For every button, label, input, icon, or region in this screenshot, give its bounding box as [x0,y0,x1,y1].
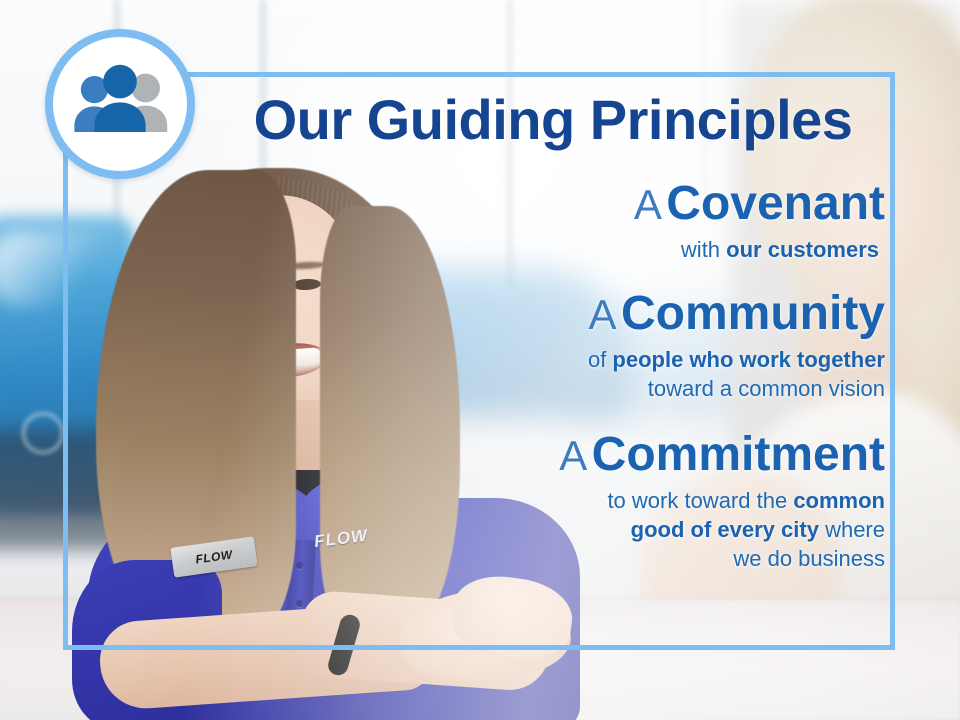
principle-article: A [634,181,662,228]
plain-text: toward a common vision [648,376,885,401]
badge-circle [45,29,195,179]
emphasis-text: common [793,488,885,513]
principle-detail-line: to work toward the common [320,486,885,515]
plain-text: we do business [733,546,885,571]
principle-keyword: Community [621,287,885,340]
principle-detail-line: good of every city where [320,515,885,544]
principle-detail: to work toward the commongood of every c… [320,486,885,573]
name-badge-text: FLOW [195,548,234,565]
principle-article: A [559,432,587,479]
principle-lead: A Covenant [320,180,885,229]
principle-detail: of people who work togethertoward a comm… [320,345,885,403]
plain-text: with [681,237,726,262]
principle-lead: A Community [320,290,885,339]
principle-keyword: Covenant [666,177,885,230]
plain-text: where [819,517,885,542]
principle-detail-line: with our customers [320,235,879,264]
principle-detail: with our customers [320,235,885,264]
principles-list: A Covenant with our customers A Communit… [320,180,885,581]
page-title: Our Guiding Principles [215,92,891,148]
car-emblem [22,412,64,454]
principle-detail-line: toward a common vision [320,374,885,403]
emphasis-text: people who work together [612,347,885,372]
panel-highlight [0,232,112,306]
principle-detail-line: we do business [320,544,885,573]
people-group-icon [68,64,172,144]
plain-text: to work toward the [607,488,793,513]
emphasis-text: good of every city [631,517,819,542]
plain-text: of [588,347,612,372]
principle-covenant: A Covenant with our customers [320,180,885,264]
principle-detail-line: of people who work together [320,345,885,374]
principle-community: A Community of people who work togethert… [320,290,885,403]
emphasis-text: our customers [726,237,879,262]
employee-shirt-button [296,600,303,607]
principle-article: A [589,291,617,338]
principle-lead: A Commitment [320,431,885,480]
principle-commitment: A Commitment to work toward the commongo… [320,431,885,573]
employee-shirt-button [296,562,303,569]
principle-keyword: Commitment [592,428,885,481]
banner-stage: FLOW FLOW Our Guiding Principles A Cov [0,0,960,720]
